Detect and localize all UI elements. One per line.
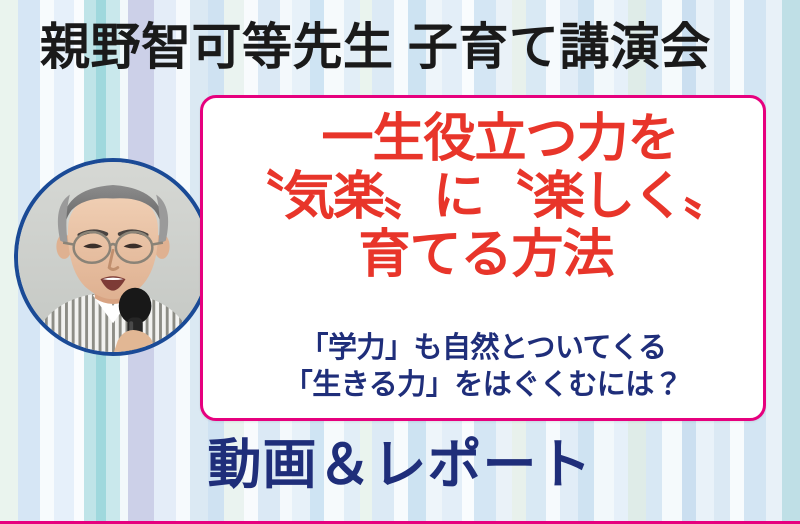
header-title: 親野智可等先生 子育て講演会	[40, 16, 770, 78]
headline: 一生役立つ力を 〝気楽〟に〝楽しく〟 育てる方法	[203, 110, 763, 284]
message-card: 一生役立つ力を 〝気楽〟に〝楽しく〟 育てる方法 「学力」も自然とついてくる 「…	[200, 95, 766, 421]
headline-line-2: 〝気楽〟に〝楽しく〟	[203, 168, 763, 226]
subheadline: 「学力」も自然とついてくる 「生きる力」をはぐくむには？	[203, 330, 763, 404]
headline-line-3: 育てる方法	[203, 226, 763, 284]
subheadline-line-2: 「生きる力」をはぐくむには？	[203, 367, 763, 404]
speaker-portrait	[14, 158, 212, 356]
headline-line-1: 一生役立つ力を	[203, 110, 763, 168]
footer-text: 動画＆レポート	[0, 432, 800, 498]
promo-banner: 親野智可等先生 子育て講演会	[0, 0, 800, 524]
subheadline-line-1: 「学力」も自然とついてくる	[203, 330, 763, 367]
portrait-illustration	[18, 162, 208, 352]
